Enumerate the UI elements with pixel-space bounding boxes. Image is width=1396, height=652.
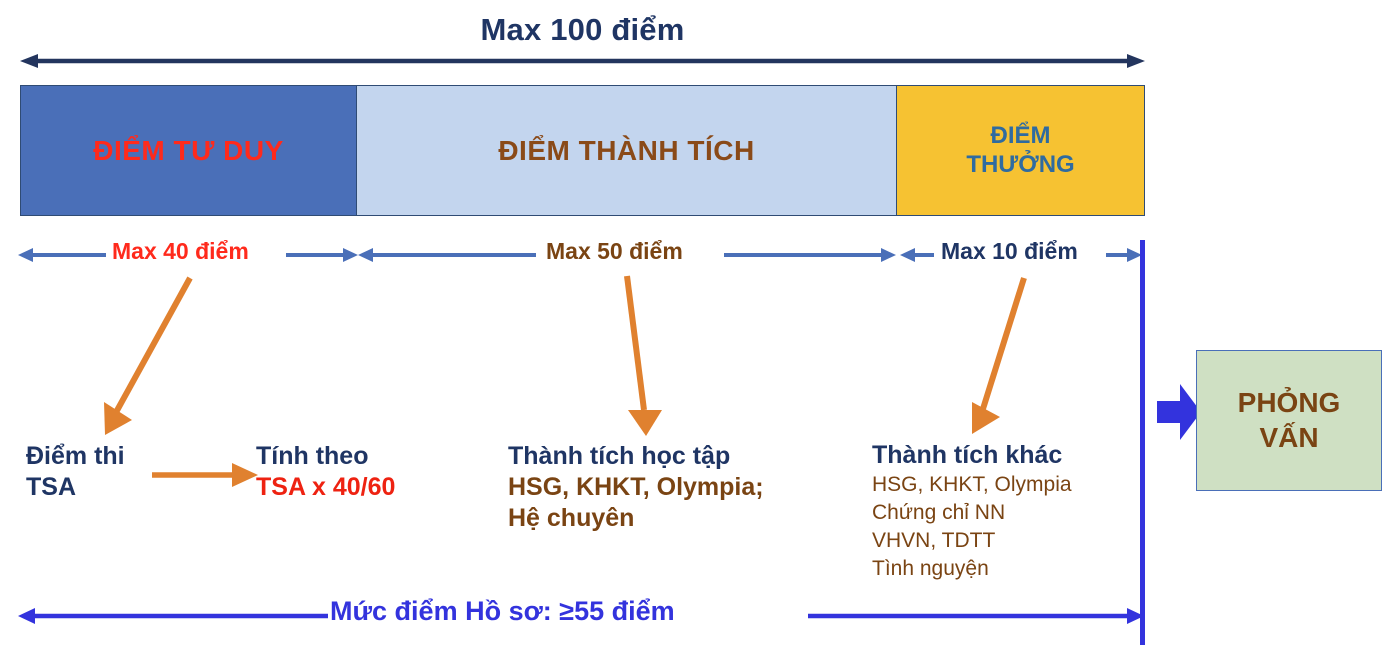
threshold-label: Mức điểm Hồ sơ: ≥55 điểm xyxy=(330,596,675,627)
khac-item: VHVN, TDTT xyxy=(872,527,1072,555)
text-block-diem-thi-tsa: Điểm thi TSA xyxy=(26,441,125,503)
bar-segment-diem-thuong-line2: THƯỞNG xyxy=(966,151,1074,178)
score-bar: ĐIỂM TƯ DUY ĐIỂM THÀNH TÍCH ĐIỂM THƯỞNG xyxy=(20,85,1145,216)
bar-segment-thanh-tich[interactable]: ĐIỂM THÀNH TÍCH xyxy=(357,85,897,216)
page-title: Max 100 điểm xyxy=(20,12,1145,48)
bar-segment-diem-thuong[interactable]: ĐIỂM THƯỞNG xyxy=(897,85,1145,216)
interview-label: PHỎNG VẤN xyxy=(1238,386,1341,454)
interview-line1: PHỎNG xyxy=(1238,387,1341,418)
bar-segment-tu-duy[interactable]: ĐIỂM TƯ DUY xyxy=(20,85,357,216)
text-block-tinh-theo: Tính theo TSA x 40/60 xyxy=(256,441,395,503)
connector-arrow-thanh-tich xyxy=(600,270,680,445)
hoc-tap-line2: HSG, KHKT, Olympia; xyxy=(508,472,764,503)
hoc-tap-line3: Hệ chuyên xyxy=(508,503,764,534)
connector-arrow-tsa-to-formula xyxy=(150,458,260,492)
khac-title: Thành tích khác xyxy=(872,440,1072,471)
connector-arrow-tu-duy xyxy=(80,270,220,445)
connector-arrow-diem-thuong xyxy=(950,270,1060,445)
measure-label-max40: Max 40 điểm xyxy=(112,238,249,265)
khac-item: HSG, KHKT, Olympia xyxy=(872,471,1072,499)
bar-segment-tu-duy-label: ĐIỂM TƯ DUY xyxy=(93,134,284,167)
diagram-canvas: Max 100 điểm ĐIỂM TƯ DUY ĐIỂM THÀNH TÍCH… xyxy=(0,0,1396,652)
diem-thi-tsa-line2: TSA xyxy=(26,472,125,503)
khac-item: Tình nguyện xyxy=(872,555,1072,583)
measure-label-max50: Max 50 điểm xyxy=(546,238,683,265)
arrow-right-icon xyxy=(1157,384,1201,440)
bar-segment-diem-thuong-label: ĐIỂM THƯỞNG xyxy=(966,122,1074,179)
tinh-theo-line1: Tính theo xyxy=(256,441,395,472)
bar-segment-thanh-tich-label: ĐIỂM THÀNH TÍCH xyxy=(498,134,754,167)
interview-line2: VẤN xyxy=(1259,422,1318,453)
tinh-theo-formula: TSA x 40/60 xyxy=(256,472,395,503)
bar-segment-diem-thuong-line1: ĐIỂM xyxy=(991,122,1051,149)
text-block-thanh-tich-khac: Thành tích khác HSG, KHKT, Olympia Chứng… xyxy=(872,440,1072,583)
text-block-thanh-tich-hoc-tap: Thành tích học tập HSG, KHKT, Olympia; H… xyxy=(508,441,764,534)
interview-box[interactable]: PHỎNG VẤN xyxy=(1196,350,1382,491)
total-span-arrow xyxy=(20,52,1145,70)
khac-item: Chứng chỉ NN xyxy=(872,499,1072,527)
hoc-tap-title: Thành tích học tập xyxy=(508,441,764,472)
diem-thi-tsa-line1: Điểm thi xyxy=(26,441,125,472)
measure-label-max10: Max 10 điểm xyxy=(941,238,1078,265)
right-boundary-rule xyxy=(1140,240,1145,645)
